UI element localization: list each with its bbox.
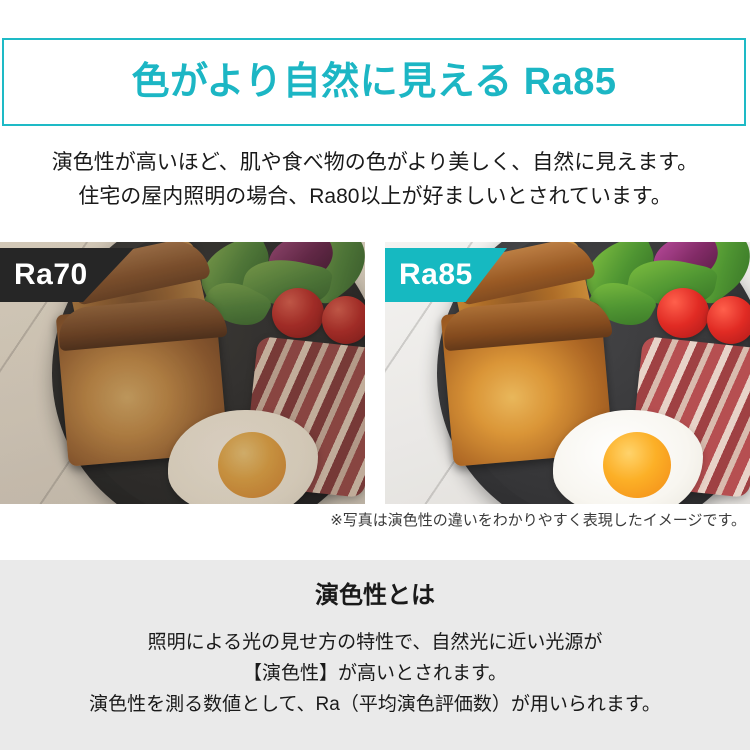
explainer-line-3: 演色性を測る数値として、Ra（平均演色評価数）が用いられます。 bbox=[0, 689, 750, 720]
lead-paragraph: 演色性が高いほど、肌や食べ物の色がより美しく、自然に見えます。 住宅の屋内照明の… bbox=[0, 146, 750, 214]
explainer-line-2: 【演色性】が高いとされます。 bbox=[0, 658, 750, 689]
explainer-title: 演色性とは bbox=[0, 582, 750, 611]
page-title: 色がより自然に見える Ra85 bbox=[131, 63, 616, 101]
comparison-photos: Ra70 Ra85 bbox=[0, 242, 750, 504]
badge-ra70-label: Ra70 bbox=[14, 260, 88, 290]
explainer-body: 照明による光の見せ方の特性で、自然光に近い光源が 【演色性】が高いとされます。 … bbox=[0, 627, 750, 720]
explainer-line-1: 照明による光の見せ方の特性で、自然光に近い光源が bbox=[0, 627, 750, 658]
lead-line-2: 住宅の屋内照明の場合、Ra80以上が好ましいとされています。 bbox=[0, 180, 750, 214]
headline-box: 色がより自然に見える Ra85 bbox=[2, 38, 746, 126]
photo-ra70: Ra70 bbox=[0, 242, 365, 504]
infographic-page: 色がより自然に見える Ra85 演色性が高いほど、肌や食べ物の色がより美しく、自… bbox=[0, 0, 750, 750]
photo-disclaimer: ※写真は演色性の違いをわかりやすく表現したイメージです。 bbox=[0, 510, 746, 532]
photo-ra85: Ra85 bbox=[385, 242, 750, 504]
badge-ra85-label: Ra85 bbox=[399, 260, 473, 290]
lead-line-1: 演色性が高いほど、肌や食べ物の色がより美しく、自然に見えます。 bbox=[0, 146, 750, 180]
explainer-section: 演色性とは 照明による光の見せ方の特性で、自然光に近い光源が 【演色性】が高いと… bbox=[0, 560, 750, 750]
